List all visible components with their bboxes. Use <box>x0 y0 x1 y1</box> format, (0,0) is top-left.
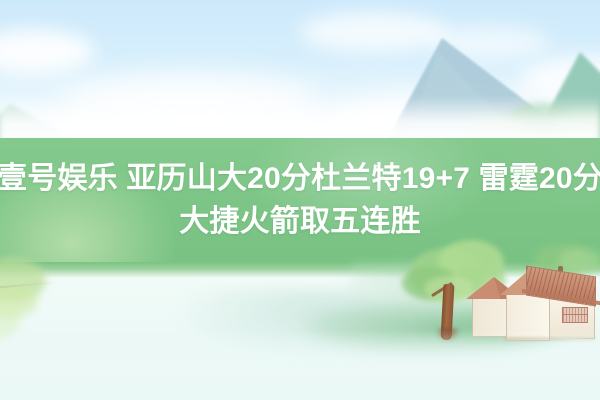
house-window-bar <box>562 314 588 315</box>
headline-line-1: 壹号娱乐 亚历山大20分杜兰特19+7 雷霆20分 <box>0 160 600 198</box>
headline-line-2: 大捷火箭取五连胜 <box>179 203 421 241</box>
house-window <box>562 307 588 323</box>
headline-text-block: 壹号娱乐 亚历山大20分杜兰特19+7 雷霆20分 大捷火箭取五连胜 <box>0 138 600 262</box>
sky-background <box>0 0 600 142</box>
bottom-mist <box>0 330 600 400</box>
tree-canopy <box>558 248 600 274</box>
illustration-canvas: 壹号娱乐 亚历山大20分杜兰特19+7 雷霆20分 大捷火箭取五连胜 <box>0 0 600 400</box>
mountain-haze <box>0 96 600 142</box>
cloud-icon <box>0 30 94 74</box>
